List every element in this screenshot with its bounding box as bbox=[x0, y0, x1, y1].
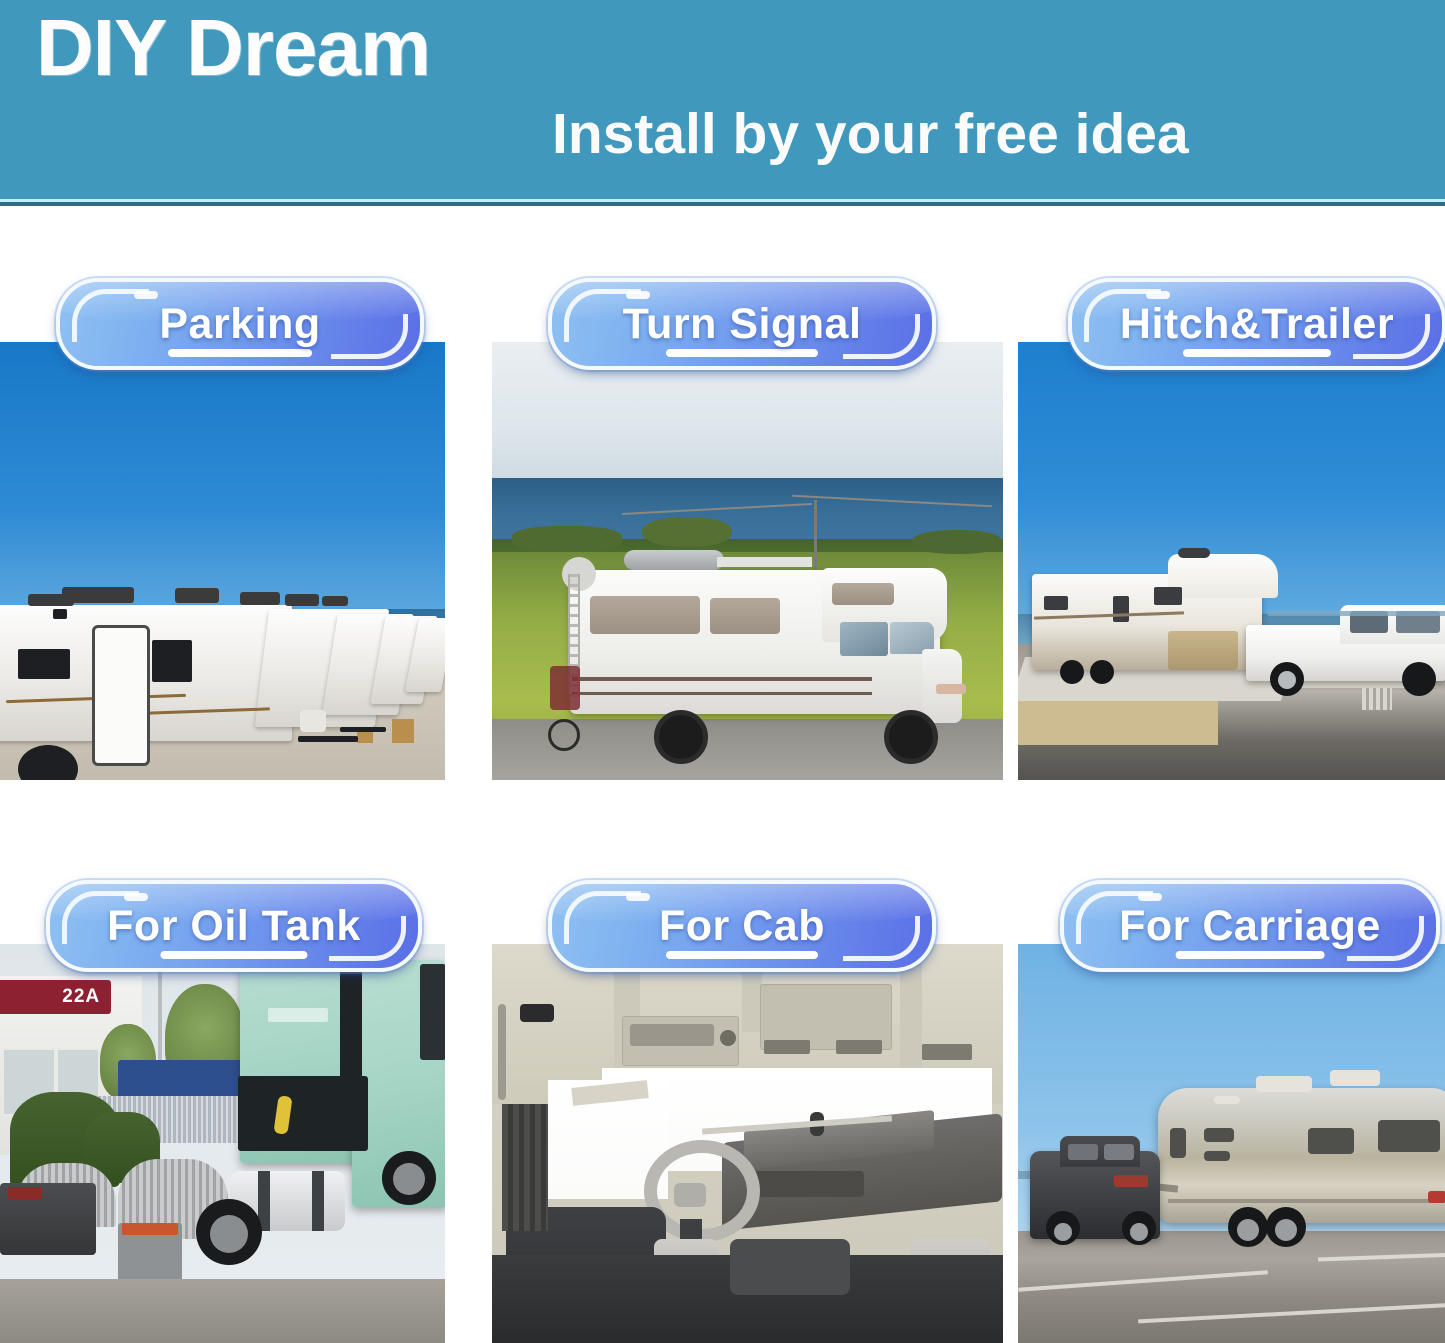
feature-grid: Parking bbox=[0, 202, 1445, 1343]
photo-parking bbox=[0, 342, 445, 780]
badge-hitch-trailer[interactable]: Hitch&Trailer bbox=[1068, 278, 1445, 370]
badge-underline bbox=[1183, 349, 1331, 357]
photo-hitch-trailer bbox=[1018, 342, 1445, 780]
badge-parking[interactable]: Parking bbox=[56, 278, 424, 370]
gloss-dot-icon bbox=[134, 291, 158, 299]
badge-turn-signal[interactable]: Turn Signal bbox=[548, 278, 936, 370]
gloss-arc-br-icon bbox=[331, 314, 408, 359]
badge-underline bbox=[666, 951, 818, 959]
photo-carriage bbox=[1018, 944, 1445, 1343]
badge-underline bbox=[168, 349, 312, 357]
photo-turn-signal bbox=[492, 342, 1003, 780]
photo-cab bbox=[492, 944, 1003, 1343]
badge-label-cab: For Cab bbox=[659, 902, 825, 951]
gloss-dot-icon bbox=[124, 893, 148, 901]
badge-label-hitch-trailer: Hitch&Trailer bbox=[1120, 300, 1394, 349]
badge-label-turn-signal: Turn Signal bbox=[623, 300, 862, 349]
badge-oil-tank[interactable]: For Oil Tank bbox=[46, 880, 422, 972]
page-subtitle: Install by your free idea bbox=[552, 106, 1189, 163]
gloss-dot-icon bbox=[1146, 291, 1170, 299]
page-title: DIY Dream bbox=[36, 8, 430, 88]
building-sign: 22A bbox=[0, 980, 111, 1014]
header-banner: DIY Dream Install by your free idea bbox=[0, 0, 1445, 206]
gloss-dot-icon bbox=[626, 893, 650, 901]
gloss-arc-br-icon bbox=[843, 916, 920, 961]
badge-label-parking: Parking bbox=[159, 300, 320, 349]
badge-label-oil-tank: For Oil Tank bbox=[107, 902, 361, 951]
badge-underline bbox=[160, 951, 307, 959]
gloss-dot-icon bbox=[626, 291, 650, 299]
badge-underline bbox=[666, 349, 818, 357]
badge-cab[interactable]: For Cab bbox=[548, 880, 936, 972]
badge-label-carriage: For Carriage bbox=[1119, 902, 1381, 951]
photo-oil-tank: 22A bbox=[0, 944, 445, 1343]
gloss-dot-icon bbox=[1138, 893, 1162, 901]
building-sign-text: 22A bbox=[62, 986, 100, 1008]
badge-carriage[interactable]: For Carriage bbox=[1060, 880, 1440, 972]
badge-underline bbox=[1176, 951, 1325, 959]
